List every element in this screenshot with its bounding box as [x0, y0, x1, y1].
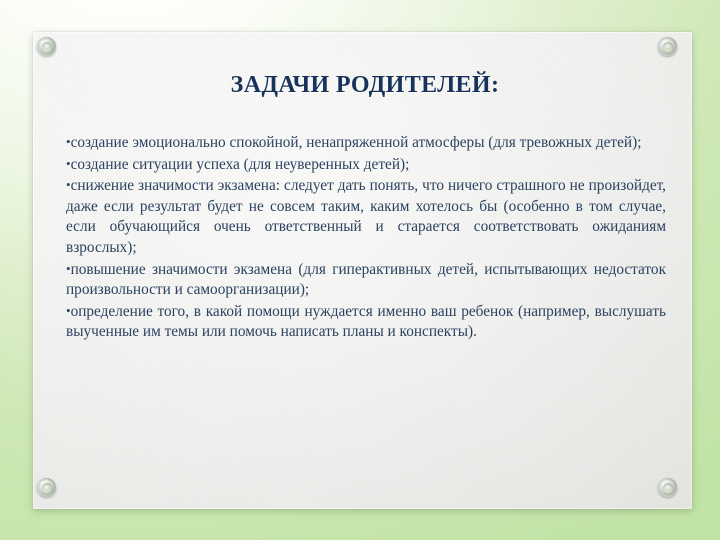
slide-title: ЗАДАЧИ РОДИТЕЛЕЙ:	[60, 72, 670, 99]
list-item-text: повышение значимости экзамена (для гипер…	[66, 261, 666, 299]
list-item-text: снижение значимости экзамена: следует да…	[66, 177, 666, 256]
presentation-slide: ЗАДАЧИ РОДИТЕЛЕЙ: •создание эмоционально…	[0, 0, 720, 540]
screw-rivet-top-left-icon	[37, 37, 56, 56]
list-item-text: создание эмоционально спокойной, ненапря…	[71, 134, 642, 151]
screw-rivet-bottom-right-icon	[658, 478, 677, 497]
list-item: •создание эмоционально спокойной, ненапр…	[66, 132, 666, 154]
list-item: •определение того, в какой помощи нуждае…	[66, 301, 666, 343]
list-item: •создание ситуации успеха (для неуверенн…	[66, 154, 666, 176]
list-item-text: создание ситуации успеха (для неуверенны…	[71, 156, 410, 173]
screw-rivet-top-right-icon	[658, 37, 677, 56]
bullet-list: •создание эмоционально спокойной, ненапр…	[66, 132, 666, 343]
list-item: •повышение значимости экзамена (для гипе…	[66, 259, 666, 301]
list-item: •снижение значимости экзамена: следует д…	[66, 175, 666, 258]
screw-rivet-bottom-left-icon	[37, 478, 56, 497]
list-item-text: определение того, в какой помощи нуждает…	[66, 303, 666, 341]
